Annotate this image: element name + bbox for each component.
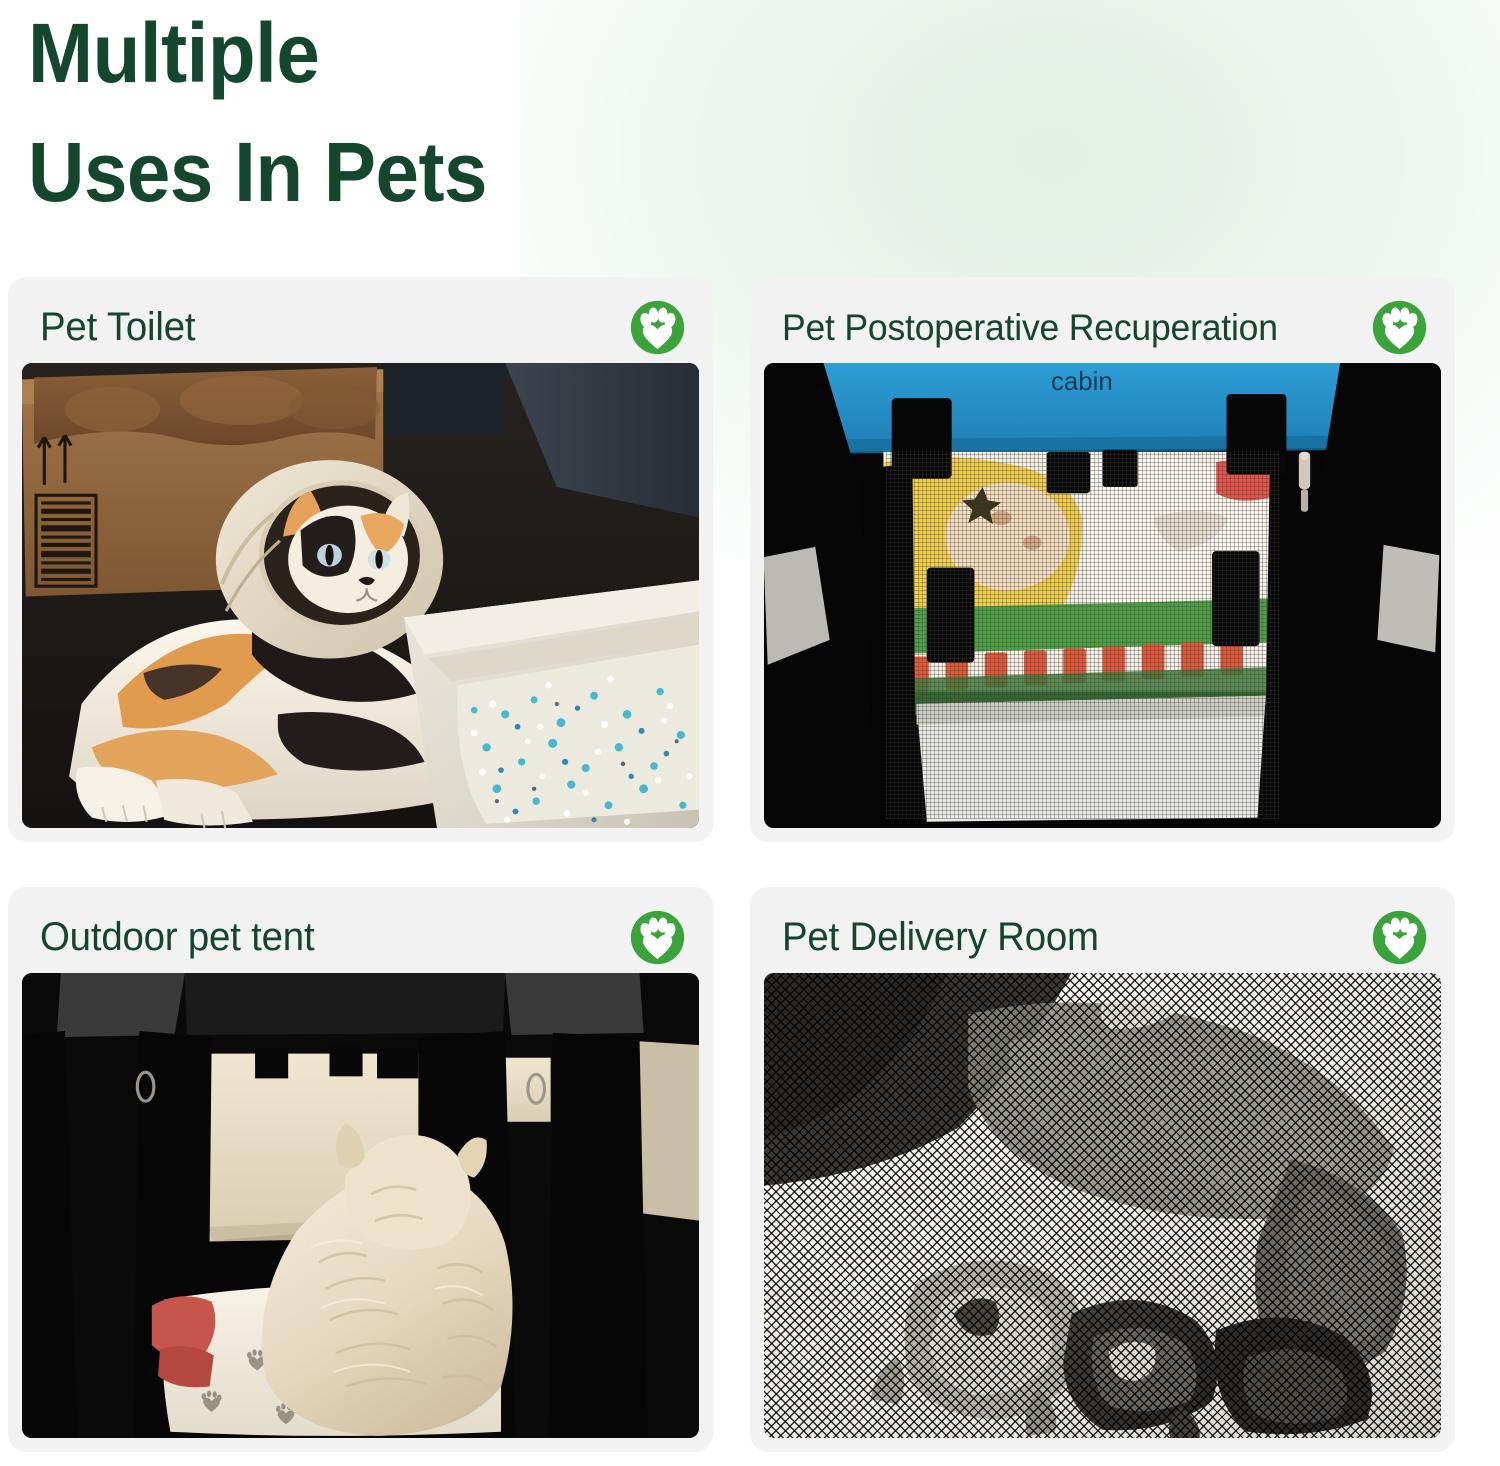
page-title: Multiple Uses In Pets (28, 0, 735, 233)
paw-icon (1372, 300, 1427, 355)
photo-cats-behind-mesh (764, 973, 1441, 1438)
use-case-card-grid: Pet Toilet (8, 277, 1492, 1452)
use-case-card-pet-delivery-room: Pet Delivery Room (750, 887, 1455, 1452)
cabin-label: cabin (1051, 368, 1113, 396)
paw-icon (1372, 910, 1427, 965)
photo-dog-in-tent (22, 973, 699, 1438)
card-title: Pet Postoperative Recuperation (782, 309, 1278, 346)
card-header: Pet Delivery Room (764, 901, 1441, 973)
card-header: Pet Postoperative Recuperation (764, 291, 1441, 363)
page-title-line-1: Multiple (28, 0, 735, 113)
card-title: Pet Delivery Room (782, 917, 1099, 957)
paw-icon (630, 910, 685, 965)
photo-playpen-cabin: cabin (764, 363, 1441, 828)
card-title: Outdoor pet tent (40, 917, 314, 957)
photo-cat-litter-box (22, 363, 699, 828)
page-title-line-2: Uses In Pets (28, 113, 735, 232)
use-case-card-pet-postoperative-recuperation: Pet Postoperative Recuperation (750, 277, 1455, 842)
paw-icon (630, 300, 685, 355)
card-header: Pet Toilet (22, 291, 699, 363)
infographic-page: Multiple Uses In Pets Pet Toilet (0, 0, 1500, 1466)
card-header: Outdoor pet tent (22, 901, 699, 973)
use-case-card-outdoor-pet-tent: Outdoor pet tent (8, 887, 713, 1452)
use-case-card-pet-toilet: Pet Toilet (8, 277, 713, 842)
card-title: Pet Toilet (40, 307, 195, 347)
